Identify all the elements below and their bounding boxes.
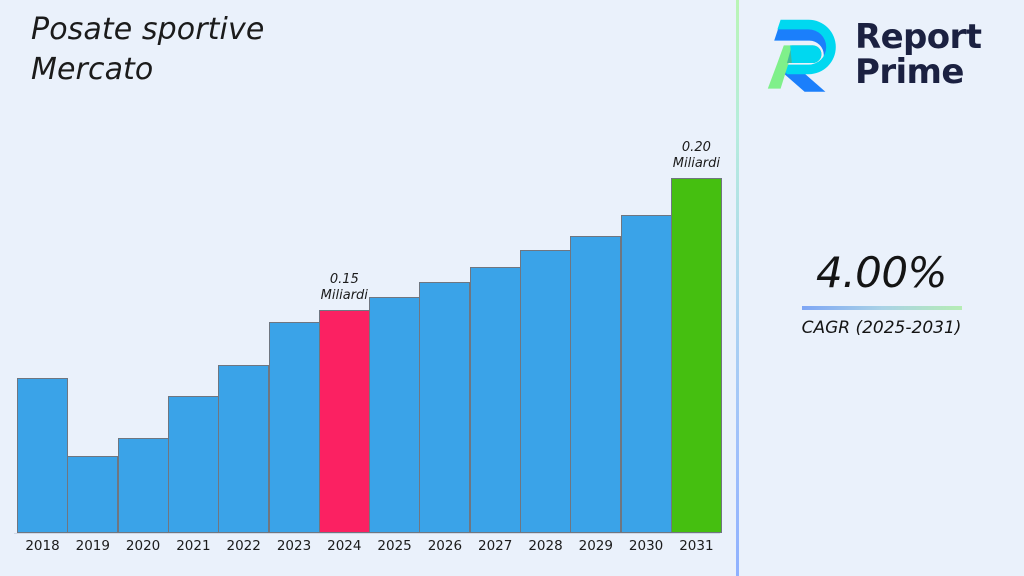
bar-slot-2028	[520, 43, 571, 533]
bar-2024[interactable]: 0.15 Miliardi	[319, 310, 370, 533]
bar-slot-2019	[67, 43, 118, 533]
bar-2030[interactable]	[621, 215, 672, 533]
bar-2019[interactable]	[67, 456, 118, 533]
brand-wordmark-line1: Report	[855, 20, 981, 55]
x-tick-2030: 2030	[621, 538, 672, 554]
cagr-block: 4.00% CAGR (2025-2031)	[739, 252, 1024, 338]
bar-slot-2030	[621, 43, 672, 533]
bar-2021[interactable]	[168, 396, 219, 533]
bar-slot-2031: 0.20 Miliardi	[671, 43, 722, 533]
bar-2018[interactable]	[17, 378, 68, 533]
bar-2025[interactable]	[369, 297, 420, 533]
bar-2022[interactable]	[218, 365, 269, 533]
bar-slot-2025	[369, 43, 420, 533]
x-tick-2023: 2023	[269, 538, 320, 554]
cagr-value: 4.00%	[739, 252, 1024, 294]
cagr-divider-rule	[802, 306, 962, 310]
brand-wordmark: Report Prime	[855, 20, 981, 89]
bar-2027[interactable]	[470, 267, 521, 533]
x-tick-2028: 2028	[520, 538, 571, 554]
x-axis-line	[14, 533, 720, 534]
bar-slot-2018	[17, 43, 68, 533]
bar-slot-2026	[419, 43, 470, 533]
bar-2020[interactable]	[118, 438, 169, 533]
cagr-caption: CAGR (2025-2031)	[739, 318, 1024, 338]
bar-2023[interactable]	[269, 322, 320, 533]
report-prime-logo-mark	[763, 15, 843, 95]
bar-2031[interactable]: 0.20 Miliardi	[671, 178, 722, 533]
x-tick-2025: 2025	[369, 538, 420, 554]
x-tick-2020: 2020	[118, 538, 169, 554]
bar-slot-2029	[570, 43, 621, 533]
x-tick-2018: 2018	[17, 538, 68, 554]
bar-2028[interactable]	[520, 250, 571, 533]
x-tick-2019: 2019	[67, 538, 118, 554]
bar-slot-2027	[470, 43, 521, 533]
x-tick-2024: 2024	[319, 538, 370, 554]
x-tick-2021: 2021	[168, 538, 219, 554]
brand-wordmark-line2: Prime	[855, 55, 981, 90]
brand-logo: Report Prime	[763, 12, 1011, 98]
x-tick-2026: 2026	[419, 538, 470, 554]
bar-slot-2021	[168, 43, 219, 533]
bar-slot-2023	[269, 43, 320, 533]
bar-value-label-2031: 0.20 Miliardi	[673, 140, 720, 173]
bar-slot-2024: 0.15 Miliardi	[319, 43, 370, 533]
x-tick-2031: 2031	[671, 538, 722, 554]
bar-2026[interactable]	[419, 282, 470, 533]
bar-2029[interactable]	[570, 236, 621, 533]
bar-slot-2020	[118, 43, 169, 533]
bar-slot-2022	[218, 43, 269, 533]
infographic-slide: Posate sportive Mercato 0.15 Miliardi0.2…	[0, 0, 1024, 576]
bar-value-label-2024: 0.15 Miliardi	[321, 272, 368, 305]
x-tick-2027: 2027	[470, 538, 521, 554]
bar-chart-plot: 0.15 Miliardi0.20 Miliardi 2018201920202…	[0, 0, 737, 576]
x-tick-2022: 2022	[218, 538, 269, 554]
side-panel: Report Prime 4.00% CAGR (2025-2031)	[739, 0, 1024, 576]
chart-panel: Posate sportive Mercato 0.15 Miliardi0.2…	[0, 0, 737, 576]
x-tick-2029: 2029	[570, 538, 621, 554]
